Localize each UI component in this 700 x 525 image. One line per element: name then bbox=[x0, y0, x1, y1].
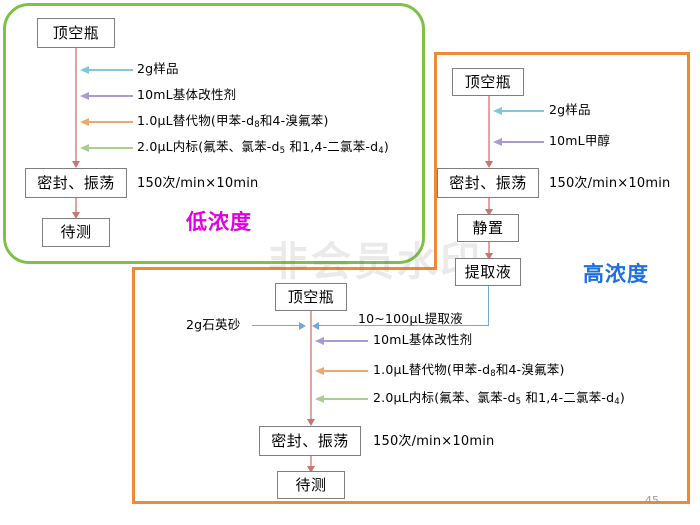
high-s2-seal-shake-box[interactable]: 密封、振荡 bbox=[259, 426, 361, 456]
high-s2-flow-line-1 bbox=[310, 311, 312, 422]
extract-transfer-vline bbox=[488, 286, 489, 326]
low-to-be-tested-box[interactable]: 待测 bbox=[42, 218, 110, 247]
high-s1-headspace-vial-box[interactable]: 顶空瓶 bbox=[452, 68, 524, 96]
low-reagent-label-3: 1.0μL替代物(甲苯-d8和4-溴氟苯) bbox=[137, 115, 329, 129]
high-s1-reagent-label-1: 2g样品 bbox=[549, 104, 591, 117]
high-s2-flow-arrow-1 bbox=[307, 419, 315, 426]
low-flow-line-1 bbox=[75, 48, 77, 164]
high-s1-stand-still-box[interactable]: 静置 bbox=[457, 214, 519, 242]
low-reagent-label-2: 10mL基体改性剂 bbox=[137, 89, 236, 102]
flowchart-canvas: 非会员水印 顶空瓶 2g样品 10mL基体改性剂 1.0μL替代物(甲苯-d8和… bbox=[0, 0, 700, 525]
high-s1-shake-note: 150次/min×10min bbox=[549, 177, 670, 190]
low-headspace-vial-box[interactable]: 顶空瓶 bbox=[37, 18, 115, 48]
extract-transfer-arrowhead bbox=[312, 322, 319, 330]
high-concentration-label: 高浓度 bbox=[583, 264, 649, 285]
high-s2-extract-amount-label: 10~100μL提取液 bbox=[358, 313, 463, 326]
high-s2-to-be-tested-box[interactable]: 待测 bbox=[277, 471, 345, 499]
high-s1-seal-shake-box[interactable]: 密封、振荡 bbox=[437, 168, 539, 198]
low-flow-arrow-1 bbox=[72, 161, 80, 168]
high-s1-flow-line-1 bbox=[488, 96, 490, 164]
high-s1-extract-box[interactable]: 提取液 bbox=[455, 258, 521, 286]
high-concentration-panel bbox=[132, 267, 690, 504]
low-shake-note: 150次/min×10min bbox=[137, 177, 258, 190]
high-s1-reagent-label-2: 10mL甲醇 bbox=[549, 135, 610, 148]
high-s2-headspace-vial-box[interactable]: 顶空瓶 bbox=[275, 283, 347, 311]
high-s2-reagent-label-4: 2.0μL内标(氟苯、氯苯-d5 和1,4-二氯苯-d4) bbox=[373, 392, 625, 406]
low-reagent-label-1: 2g样品 bbox=[137, 63, 179, 76]
high-s2-reagent-label-2: 10mL基体改性剂 bbox=[373, 334, 472, 347]
low-reagent-label-4: 2.0μL内标(氟苯、氯苯-d5 和1,4-二氯苯-d4) bbox=[137, 141, 389, 155]
low-concentration-label: 低浓度 bbox=[186, 212, 252, 233]
low-seal-shake-box[interactable]: 密封、振荡 bbox=[25, 168, 127, 198]
high-s2-shake-note: 150次/min×10min bbox=[373, 435, 494, 448]
high-s1-flow-arrow-1 bbox=[485, 161, 493, 168]
high-s2-reagent-label-3: 1.0μL替代物(甲苯-d8和4-溴氟苯) bbox=[373, 364, 565, 378]
high-s2-quartz-sand-arrowhead bbox=[299, 322, 306, 330]
high-s2-quartz-sand-line bbox=[252, 325, 300, 326]
page-number: 45 bbox=[645, 495, 659, 506]
high-s2-quartz-sand-label: 2g石英砂 bbox=[186, 319, 240, 332]
